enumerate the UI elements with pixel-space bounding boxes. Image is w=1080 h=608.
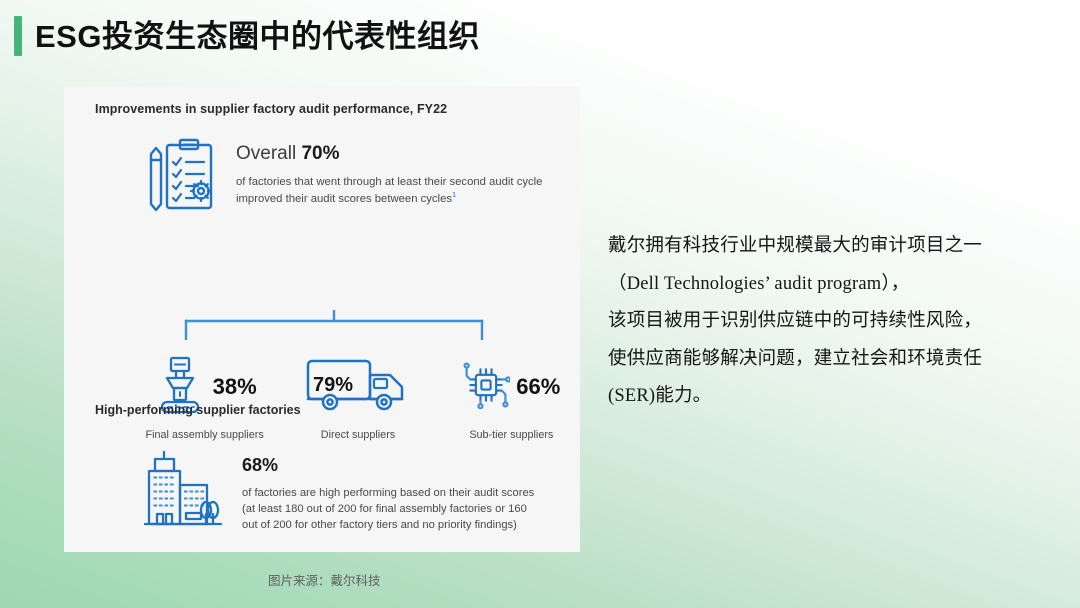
tier-stat-final-assembly-label: Final assembly suppliers bbox=[146, 429, 264, 441]
tier-stat-direct: 79% Direct suppliers bbox=[281, 358, 434, 441]
title-text: ESG投资生态圈中的代表性组织 bbox=[35, 21, 480, 52]
infographic-heading: Improvements in supplier factory audit p… bbox=[95, 102, 447, 116]
office-buildings-icon bbox=[142, 448, 224, 530]
high-performing-block: 68% of factories are high performing bas… bbox=[142, 448, 534, 534]
high-performing-value: 68% bbox=[242, 456, 534, 474]
high-performing-description-line2: (at least 180 out of 200 for final assem… bbox=[242, 503, 527, 515]
overall-description-line1: of factories that went through at least … bbox=[236, 176, 542, 188]
overall-title: Overall 70% bbox=[236, 144, 542, 165]
overall-stat-block: Overall 70% of factories that went throu… bbox=[142, 136, 542, 216]
page-title: ESG投资生态圈中的代表性组织 bbox=[14, 16, 480, 56]
tier-stat-final-assembly-value: 38% bbox=[213, 376, 257, 398]
microchip-icon bbox=[462, 361, 510, 414]
commentary-paragraph: 戴尔拥有科技行业中规模最大的审计项目之一 （Dell Technologies’… bbox=[608, 228, 1012, 416]
high-performing-description: of factories are high performing based o… bbox=[242, 485, 534, 534]
overall-description-line2: improved their audit scores between cycl… bbox=[236, 193, 452, 205]
infographic-card: Improvements in supplier factory audit p… bbox=[64, 86, 580, 552]
bracket-connector-icon bbox=[184, 310, 484, 345]
commentary-line-4: 使供应商能够解决问题，建立社会和环境责任 bbox=[608, 349, 982, 369]
slide-canvas: ESG投资生态圈中的代表性组织 Improvements in supplier… bbox=[0, 0, 1080, 608]
commentary-line-3: 该项目被用于识别供应链中的可持续性风险， bbox=[608, 311, 982, 331]
overall-value: 70% bbox=[301, 143, 339, 164]
tier-stat-sub-tier-value: 66% bbox=[516, 376, 560, 398]
tier-stats-row: 38% Final assembly suppliers bbox=[128, 358, 588, 441]
tier-stat-sub-tier-label: Sub-tier suppliers bbox=[469, 429, 553, 441]
commentary-line-2: （Dell Technologies’ audit program）， bbox=[608, 274, 909, 294]
title-accent-bar bbox=[14, 16, 22, 56]
commentary-line-1: 戴尔拥有科技行业中规模最大的审计项目之一 bbox=[608, 236, 982, 256]
tier-stat-sub-tier-inner: 66% bbox=[462, 358, 560, 416]
high-performing-text: 68% of factories are high performing bas… bbox=[242, 448, 534, 534]
high-performing-description-line1: of factories are high performing based o… bbox=[242, 487, 534, 499]
overall-text: Overall 70% of factories that went throu… bbox=[236, 136, 542, 207]
tier-stat-direct-inner: 79% bbox=[306, 358, 410, 416]
overall-description: of factories that went through at least … bbox=[236, 174, 542, 207]
overall-label: Overall bbox=[236, 143, 296, 164]
tier-stat-direct-label: Direct suppliers bbox=[321, 429, 395, 441]
tier-stat-final-assembly: 38% Final assembly suppliers bbox=[128, 358, 281, 441]
tier-stat-direct-value: 79% bbox=[313, 375, 353, 395]
clipboard-checklist-gear-icon bbox=[142, 136, 220, 216]
source-caption: 图片来源：戴尔科技 bbox=[268, 570, 381, 589]
commentary-line-5: (SER)能力。 bbox=[608, 386, 711, 406]
high-performing-description-line3: out of 200 for other factory tiers and n… bbox=[242, 519, 517, 531]
high-performing-heading: High-performing supplier factories bbox=[95, 403, 301, 417]
tier-stat-sub-tier: 66% Sub-tier suppliers bbox=[435, 358, 588, 441]
footnote-marker: 1 bbox=[452, 190, 456, 199]
